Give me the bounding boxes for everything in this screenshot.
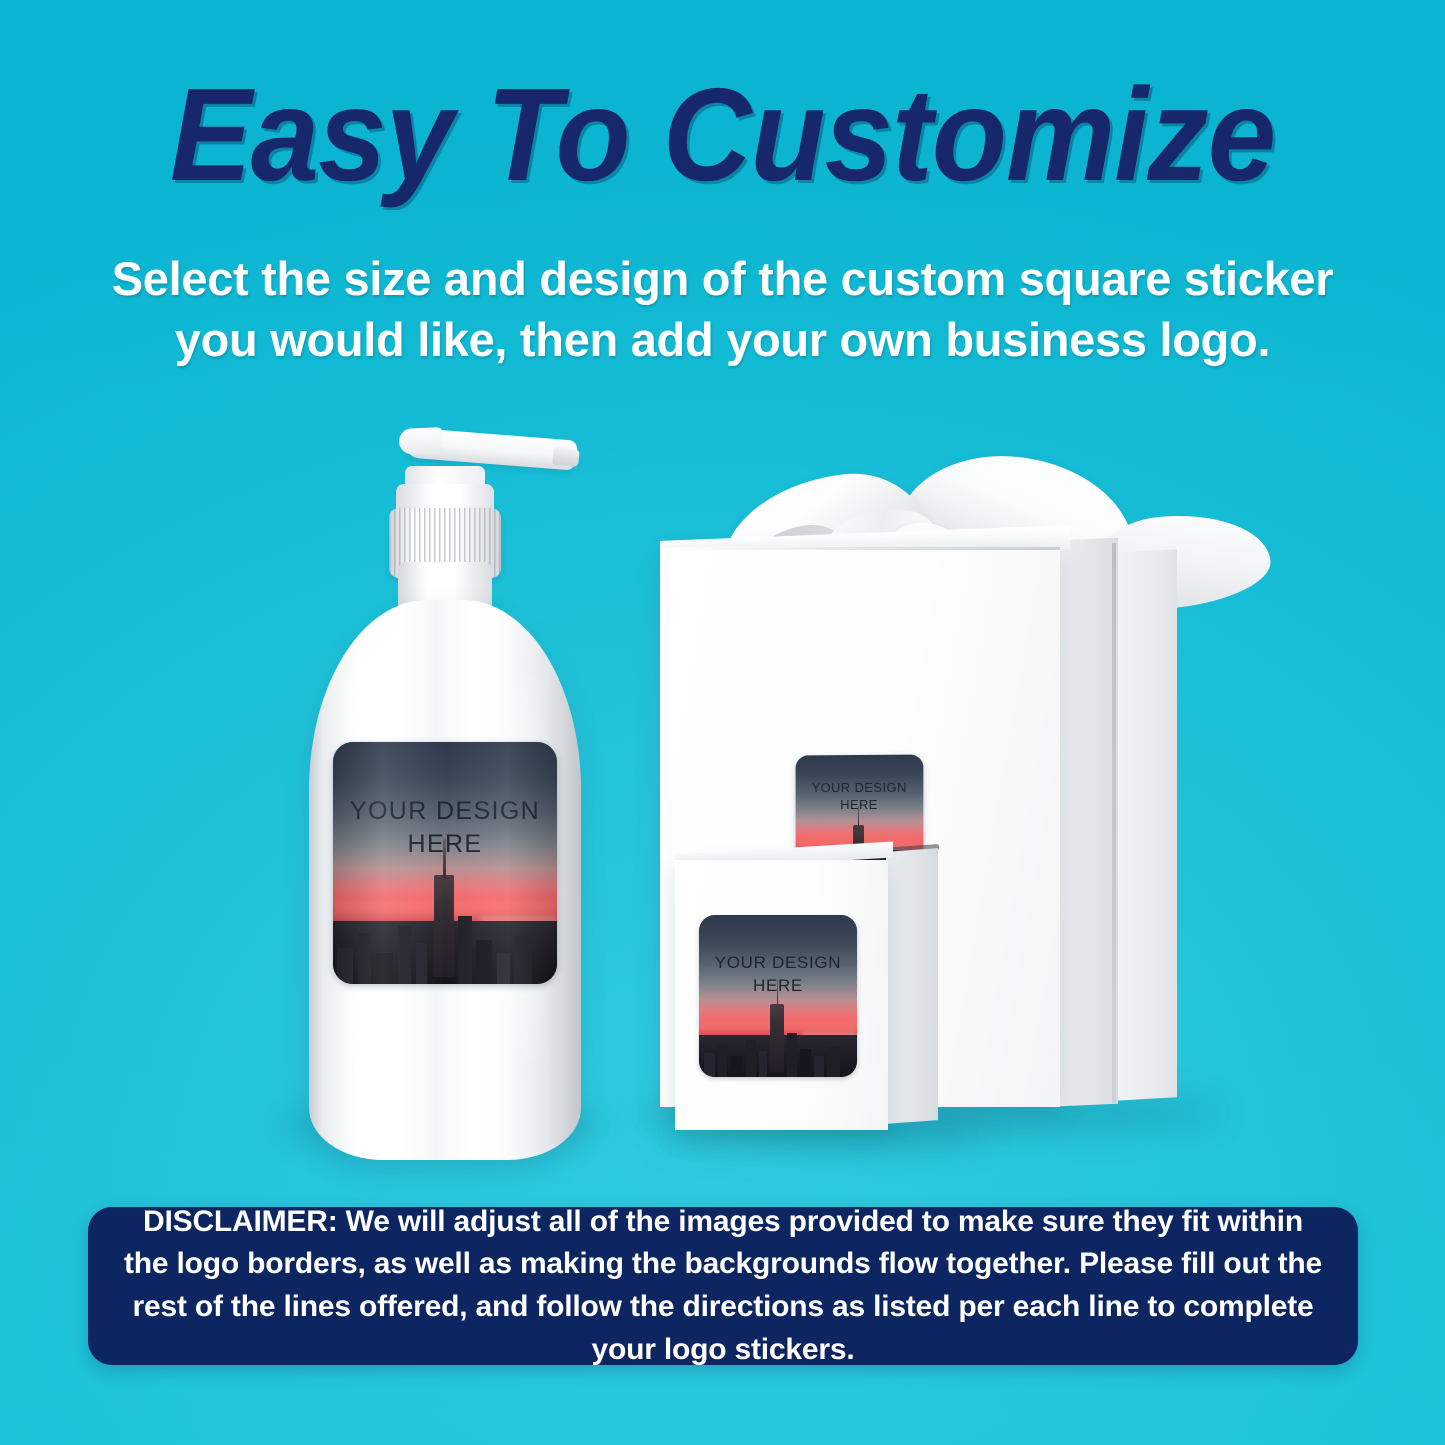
- sticker-text: YOUR DESIGN HERE: [333, 795, 557, 861]
- pump-nozzle-lip: [399, 427, 444, 455]
- disclaimer-text: DISCLAIMER: We will adjust all of the im…: [123, 1201, 1323, 1371]
- gift-box-lid-line: [660, 547, 1060, 550]
- building: [497, 953, 510, 984]
- small-box: YOUR DESIGN HERE: [675, 860, 955, 1135]
- building: [476, 940, 492, 984]
- sticker-text-line1: YOUR DESIGN: [699, 952, 857, 974]
- sticker-artwork: YOUR DESIGN HERE: [699, 915, 857, 1077]
- building: [814, 1056, 823, 1077]
- building: [398, 926, 411, 984]
- building: [746, 1040, 755, 1077]
- building: [514, 936, 532, 984]
- building: [827, 1046, 840, 1077]
- building: [358, 933, 371, 984]
- building: [718, 1045, 727, 1077]
- sticker-on-small-box: YOUR DESIGN HERE: [699, 915, 857, 1077]
- small-box-side-panel: [886, 848, 938, 1124]
- empire-state-building: [770, 1004, 784, 1072]
- product-scene: YOUR DESIGN HERE: [0, 380, 1445, 1210]
- empire-state-building: [434, 875, 454, 977]
- building: [458, 916, 471, 984]
- building: [800, 1049, 811, 1077]
- building: [759, 1051, 767, 1077]
- sticker-text: YOUR DESIGN HERE: [699, 952, 857, 997]
- disclaimer-label: DISCLAIMER:: [143, 1205, 337, 1238]
- sticker-on-bottle: YOUR DESIGN HERE: [333, 742, 557, 984]
- building: [416, 943, 427, 984]
- gift-box-side-panel-near: [1060, 538, 1118, 1106]
- gift-box-side-panel-far: [1115, 549, 1177, 1100]
- sticker-artwork: YOUR DESIGN HERE: [333, 742, 557, 984]
- building: [787, 1033, 796, 1077]
- gift-box-seam: [1112, 543, 1116, 1103]
- sticker-text-line1: YOUR DESIGN: [796, 779, 924, 797]
- sticker-text-line2: HERE: [796, 796, 924, 813]
- pump-nozzle-tip: [552, 447, 580, 468]
- page-title: Easy To Customize: [51, 68, 1395, 203]
- disclaimer-banner: DISCLAIMER: We will adjust all of the im…: [88, 1207, 1358, 1365]
- pump-bottle: YOUR DESIGN HERE: [295, 422, 595, 1162]
- sticker-text-line2: HERE: [333, 828, 557, 861]
- sticker-text-line1: YOUR DESIGN: [333, 795, 557, 828]
- building: [337, 948, 353, 984]
- sticker-text-line2: HERE: [699, 975, 857, 997]
- sticker-text: YOUR DESIGN HERE: [796, 779, 924, 814]
- building: [704, 1053, 715, 1077]
- building: [731, 1056, 744, 1077]
- page-subtitle: Select the size and design of the custom…: [100, 248, 1345, 370]
- building: [376, 953, 394, 984]
